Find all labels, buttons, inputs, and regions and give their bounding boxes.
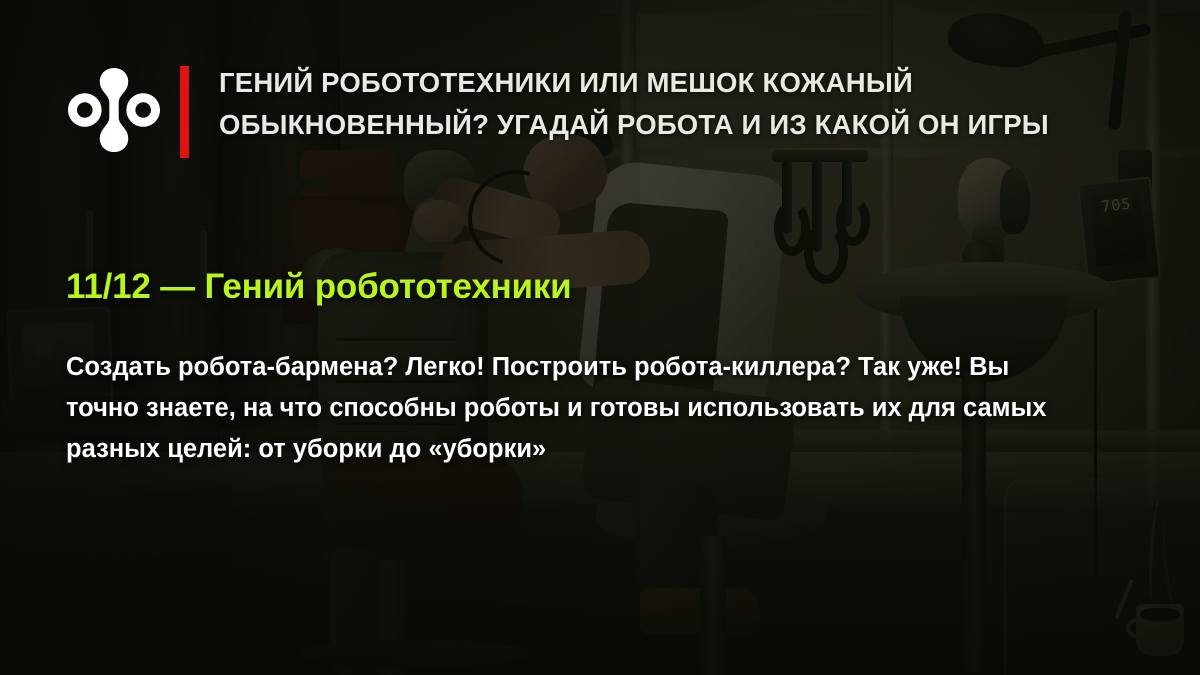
article-cover-image: 705 xyxy=(0,0,1200,675)
red-divider xyxy=(180,66,189,158)
page-title: 11/12 — Гений робототехники xyxy=(66,267,572,307)
body-text: Создать робота-бармена? Легко! Построить… xyxy=(66,347,1080,469)
masthead-title: ГЕНИЙ РОБОТОТЕХНИКИ ИЛИ МЕШОК КОЖАНЫЙ ОБ… xyxy=(219,62,1149,146)
dtf-logo-icon[interactable] xyxy=(66,62,162,158)
masthead: ГЕНИЙ РОБОТОТЕХНИКИ ИЛИ МЕШОК КОЖАНЫЙ ОБ… xyxy=(66,62,1149,158)
